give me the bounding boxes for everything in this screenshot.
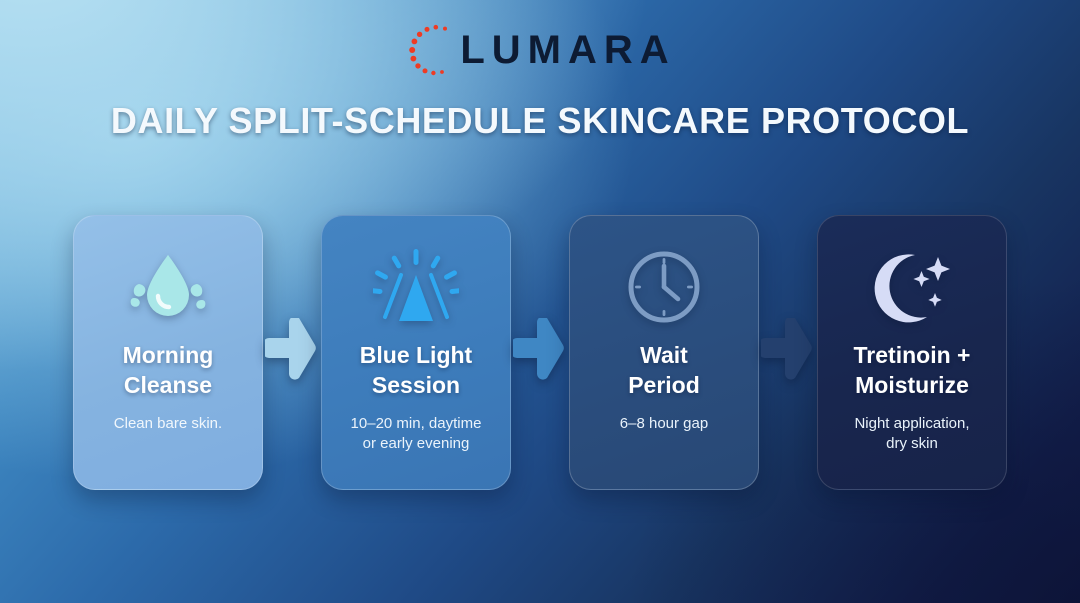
step-card-blue-light-session[interactable]: Blue Light Session 10–20 min, daytime or… xyxy=(321,215,511,490)
step-title: Morning Cleanse xyxy=(123,340,214,401)
flow-connector-3 xyxy=(758,215,818,490)
step-description: 6–8 hour gap xyxy=(620,414,708,435)
water-drop-icon xyxy=(125,248,211,326)
arrow-right-icon xyxy=(265,318,319,388)
page-title: DAILY SPLIT-SCHEDULE SKINCARE PROTOCOL xyxy=(0,100,1080,142)
step-card-morning-cleanse[interactable]: Morning Cleanse Clean bare skin. xyxy=(73,215,263,490)
light-beam-icon xyxy=(373,248,459,326)
brand-logo: LUMARA xyxy=(0,22,1080,78)
flow-connector-2 xyxy=(510,215,570,490)
infographic-canvas: LUMARA DAILY SPLIT-SCHEDULE SKINCARE PRO… xyxy=(0,0,1080,603)
arrow-right-icon xyxy=(761,318,815,388)
brand-name: LUMARA xyxy=(458,30,675,70)
arrow-right-icon xyxy=(513,318,567,388)
step-card-wait-period[interactable]: Wait Period 6–8 hour gap xyxy=(569,215,759,490)
step-title: Wait Period xyxy=(628,340,700,401)
process-flow: Morning Cleanse Clean bare skin. xyxy=(0,215,1080,493)
step-description: 10–20 min, daytime or early evening xyxy=(351,414,482,455)
clock-icon xyxy=(624,248,704,326)
dotted-arc-icon xyxy=(404,22,460,78)
step-card-tretinoin-moisturize[interactable]: Tretinoin + Moisturize Night application… xyxy=(817,215,1007,490)
flow-connector-1 xyxy=(262,215,322,490)
step-title: Blue Light Session xyxy=(360,340,472,401)
step-title: Tretinoin + Moisturize xyxy=(854,340,971,401)
step-description: Clean bare skin. xyxy=(114,414,222,435)
crescent-moon-stars-icon xyxy=(868,248,956,326)
step-description: Night application, dry skin xyxy=(854,414,969,455)
